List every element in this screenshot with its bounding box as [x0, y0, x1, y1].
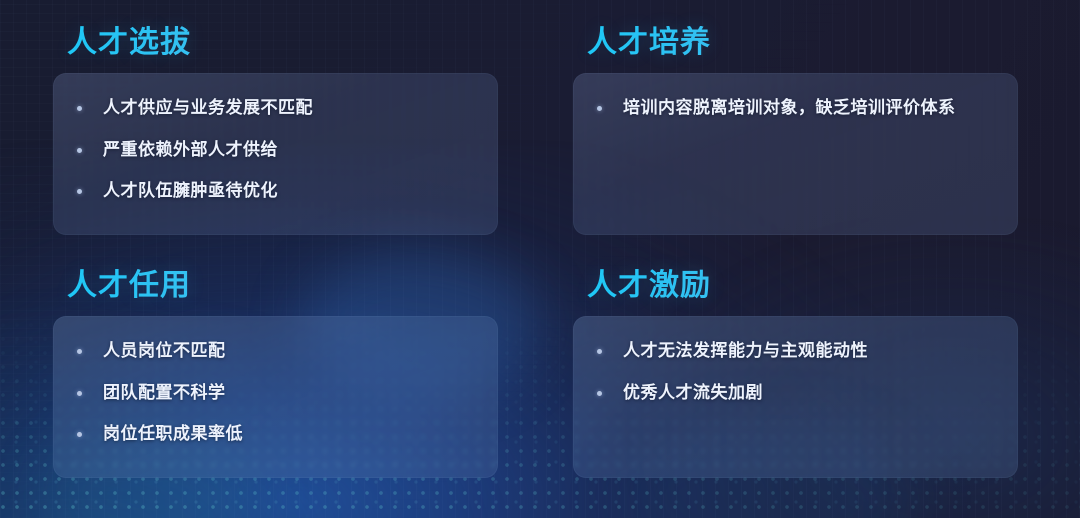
bullet-label: 人才无法发挥能力与主观能动性 — [623, 338, 868, 364]
list-item: 优秀人才流失加剧 — [593, 380, 994, 406]
quadrant-heading-talent-appointment: 人才任用 — [67, 269, 498, 302]
bullet-dot-icon — [77, 391, 82, 396]
bullet-label: 人才供应与业务发展不匹配 — [103, 95, 313, 121]
bullet-label: 岗位任职成果率低 — [103, 421, 243, 447]
bullet-dot-icon — [597, 349, 602, 354]
bullet-dot-icon — [77, 432, 82, 437]
card-talent-appointment: 人员岗位不匹配 团队配置不科学 岗位任职成果率低 — [53, 316, 498, 478]
slide-root: 人才选拔 人才供应与业务发展不匹配 严重依赖外部人才供给 人才队伍臃肿亟待优化 … — [0, 0, 1080, 518]
quadrant-heading-talent-development: 人才培养 — [587, 26, 1018, 59]
bullet-label: 优秀人才流失加剧 — [623, 380, 763, 406]
bullet-label: 人员岗位不匹配 — [103, 338, 226, 364]
list-item: 严重依赖外部人才供给 — [73, 137, 474, 163]
list-item: 人员岗位不匹配 — [73, 338, 474, 364]
list-item: 人才队伍臃肿亟待优化 — [73, 178, 474, 204]
bullet-dot-icon — [77, 148, 82, 153]
quadrant-talent-development: 人才培养 培训内容脱离培训对象，缺乏培训评价体系 — [573, 26, 1018, 235]
list-item: 人才供应与业务发展不匹配 — [73, 95, 474, 121]
card-talent-selection: 人才供应与业务发展不匹配 严重依赖外部人才供给 人才队伍臃肿亟待优化 — [53, 73, 498, 235]
bullet-label: 培训内容脱离培训对象，缺乏培训评价体系 — [623, 95, 956, 121]
quadrant-talent-incentive: 人才激励 人才无法发挥能力与主观能动性 优秀人才流失加剧 — [573, 269, 1018, 478]
list-item: 人才无法发挥能力与主观能动性 — [593, 338, 994, 364]
bullet-label: 团队配置不科学 — [103, 380, 226, 406]
list-item: 团队配置不科学 — [73, 380, 474, 406]
bullet-label: 严重依赖外部人才供给 — [103, 137, 278, 163]
list-item: 培训内容脱离培训对象，缺乏培训评价体系 — [593, 95, 994, 121]
bullet-label: 人才队伍臃肿亟待优化 — [103, 178, 278, 204]
bullet-dot-icon — [77, 189, 82, 194]
bullet-dot-icon — [597, 391, 602, 396]
card-talent-development: 培训内容脱离培训对象，缺乏培训评价体系 — [573, 73, 1018, 235]
list-item: 岗位任职成果率低 — [73, 421, 474, 447]
quadrant-heading-talent-incentive: 人才激励 — [587, 269, 1018, 302]
quadrant-grid: 人才选拔 人才供应与业务发展不匹配 严重依赖外部人才供给 人才队伍臃肿亟待优化 … — [0, 0, 1080, 518]
card-talent-incentive: 人才无法发挥能力与主观能动性 优秀人才流失加剧 — [573, 316, 1018, 478]
quadrant-talent-appointment: 人才任用 人员岗位不匹配 团队配置不科学 岗位任职成果率低 — [53, 269, 498, 478]
bullet-dot-icon — [77, 349, 82, 354]
quadrant-heading-talent-selection: 人才选拔 — [67, 26, 498, 59]
bullet-dot-icon — [597, 106, 602, 111]
bullet-dot-icon — [77, 106, 82, 111]
quadrant-talent-selection: 人才选拔 人才供应与业务发展不匹配 严重依赖外部人才供给 人才队伍臃肿亟待优化 — [53, 26, 498, 235]
